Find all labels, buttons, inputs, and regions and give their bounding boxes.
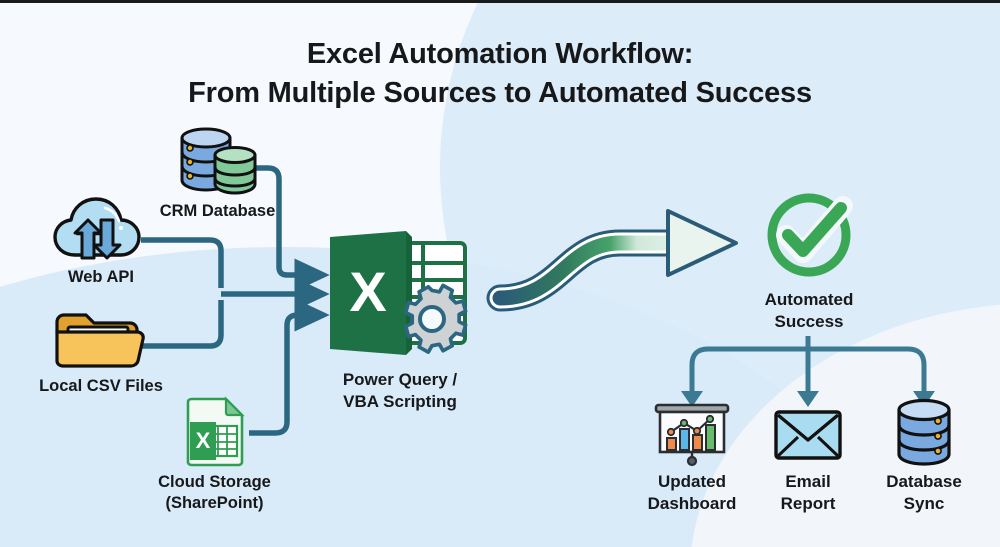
curved-flow-arrow-group (500, 211, 736, 298)
output-label-database-sync: Database Sync (865, 471, 983, 515)
output-node-database-sync[interactable]: Database Sync (865, 397, 983, 515)
output-label-dashboard: Updated Dashboard (630, 471, 754, 515)
result-label: Automated Success (745, 289, 873, 333)
workflow-diagram: Excel Automation Workflow: From Multiple… (0, 0, 1000, 547)
source-label-cloud-storage: Cloud Storage (SharePoint) (147, 472, 282, 514)
source-label-web-api: Web API (37, 267, 165, 288)
cloud-sync-icon (51, 195, 151, 263)
envelope-icon (767, 401, 849, 467)
result-node[interactable]: Automated Success (745, 185, 873, 333)
presentation-chart-icon (648, 401, 736, 467)
output-label-email: Email Report (752, 471, 864, 515)
processor-label: Power Query / VBA Scripting (310, 369, 490, 413)
database-stack-icon (173, 125, 263, 197)
svg-text:X: X (349, 260, 386, 323)
folder-icon (52, 308, 150, 372)
source-node-local-csv[interactable]: Local CSV Files (25, 308, 177, 397)
svg-text:X: X (195, 428, 210, 453)
check-circle-icon (759, 185, 859, 285)
excel-file-icon: X (182, 396, 248, 468)
source-label-local-csv: Local CSV Files (25, 376, 177, 397)
database-cylinder-icon (891, 397, 957, 467)
output-node-dashboard[interactable]: Updated Dashboard (630, 401, 754, 515)
excel-gear-icon: X (320, 231, 480, 363)
output-node-email[interactable]: Email Report (752, 401, 864, 515)
processor-node[interactable]: X Power Query / VBA Scripting (310, 231, 490, 413)
source-node-cloud-storage[interactable]: X Cloud Storage (SharePoint) (147, 396, 282, 514)
source-node-web-api[interactable]: Web API (37, 195, 165, 288)
